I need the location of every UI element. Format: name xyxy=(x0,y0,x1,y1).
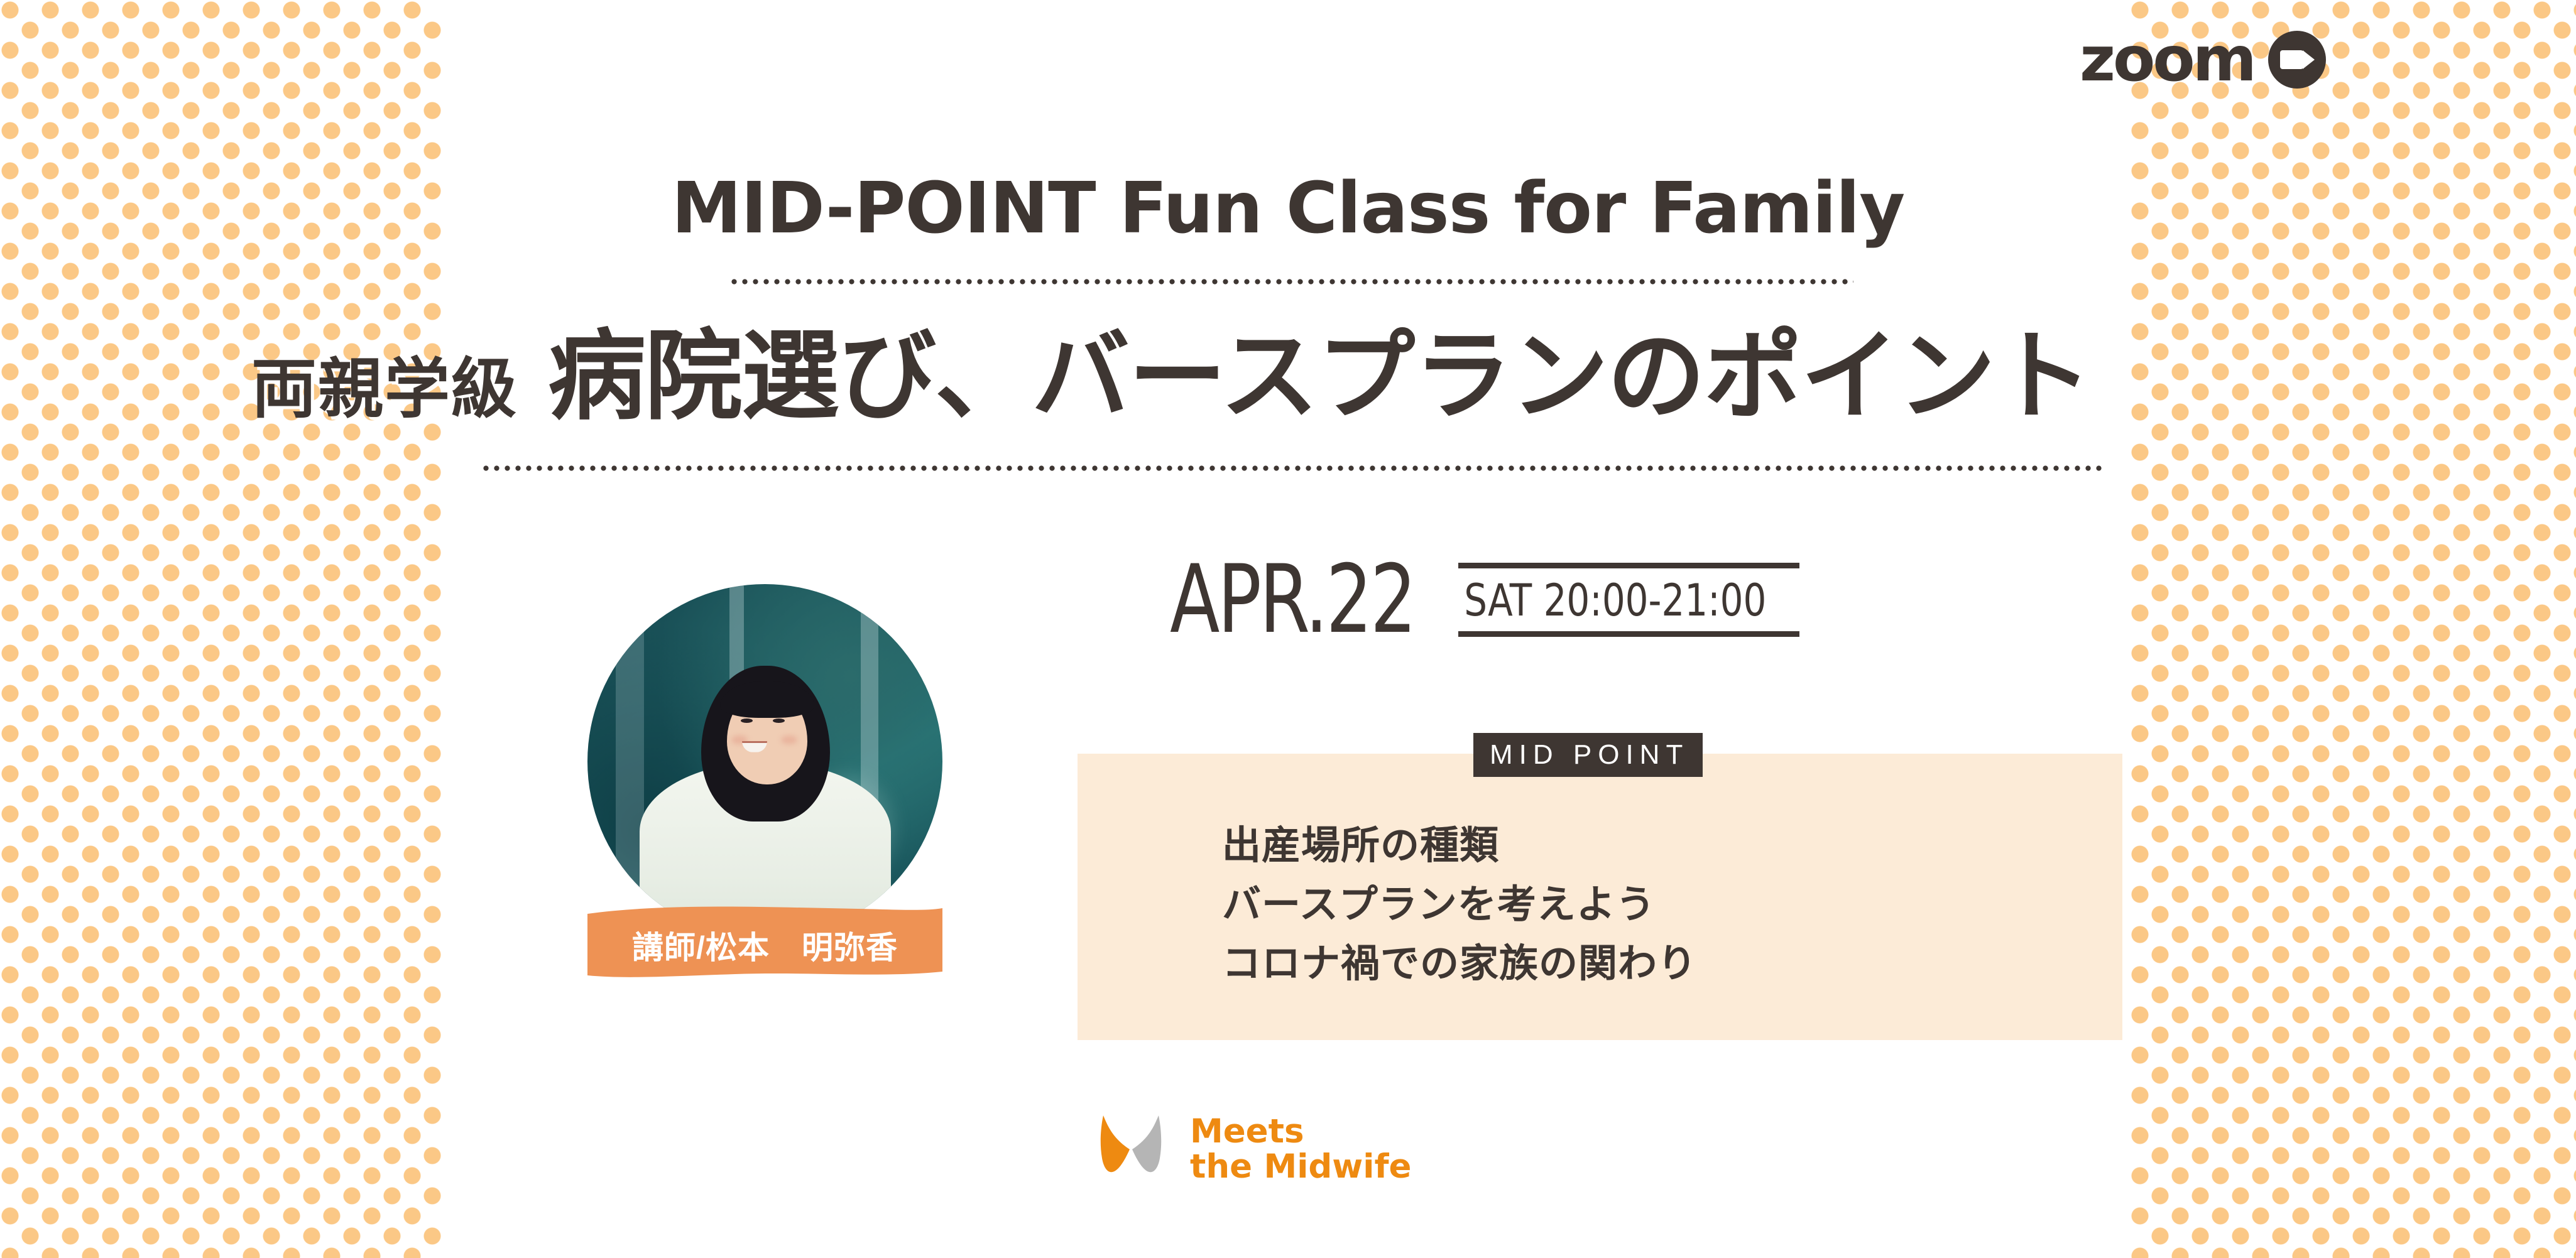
event-time-frame: SAT 20:00-21:00 xyxy=(1458,563,1799,637)
portrait-eye xyxy=(773,718,785,723)
divider-dotted-japanese xyxy=(481,465,2102,471)
portrait-cheek xyxy=(781,735,797,744)
instructor-name-label: 講師/松本 明弥香 xyxy=(587,906,942,980)
headline-japanese-kicker: 両親学級 xyxy=(251,357,518,426)
mid-point-list: 出産場所の種類 バースプランを考えよう コロナ禍での家族の関わり xyxy=(1222,816,1697,994)
divider-dotted-english xyxy=(729,279,1853,285)
headline-english: MID-POINT Fun Class for Family xyxy=(0,173,2576,244)
brand-line-2: the Midwife xyxy=(1190,1149,1411,1185)
headline-japanese-main: 病院選び、バースプランのポイント xyxy=(548,328,2091,426)
meets-the-midwife-logo: Meets the Midwife xyxy=(1093,1112,1411,1187)
instructor-photo xyxy=(587,584,942,939)
brand-wordmark: Meets the Midwife xyxy=(1190,1114,1411,1185)
zoom-wordmark: zoom xyxy=(2080,29,2254,90)
list-item: 出産場所の種類 xyxy=(1222,816,1697,876)
instructor-name-ribbon: 講師/松本 明弥香 xyxy=(587,906,942,980)
list-item: バースプランを考えよう xyxy=(1222,876,1697,935)
mid-point-tag: MID POINT xyxy=(1473,733,1703,777)
headline-japanese: 両親学級 病院選び、バースプランのポイント xyxy=(251,328,2091,426)
video-camera-icon xyxy=(2268,31,2326,89)
brand-line-1: Meets xyxy=(1190,1114,1411,1149)
event-date: APR.22 xyxy=(1170,553,1414,647)
event-time: SAT 20:00-21:00 xyxy=(1458,578,1772,622)
portrait-eye xyxy=(741,718,753,723)
brand-mark-icon xyxy=(1093,1112,1169,1187)
list-item: コロナ禍での家族の関わり xyxy=(1222,935,1697,994)
avatar xyxy=(587,584,942,939)
portrait-bangs xyxy=(720,681,814,718)
schedule-block: APR.22 SAT 20:00-21:00 xyxy=(1170,553,1799,647)
zoom-logo: zoom xyxy=(2080,29,2326,90)
